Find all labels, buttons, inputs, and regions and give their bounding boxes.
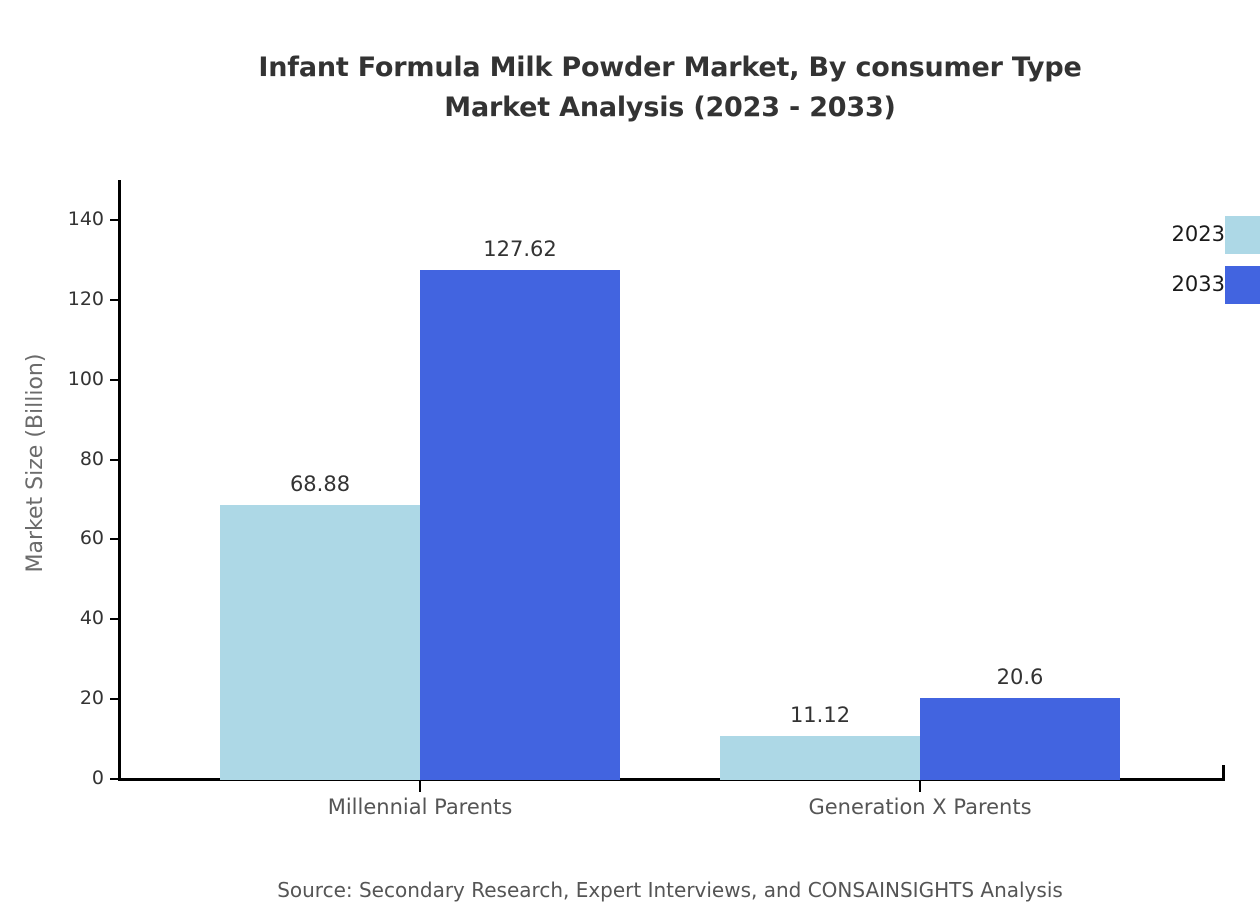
y-axis-tick [110,618,120,620]
y-axis-tick [110,299,120,301]
x-axis-tick [919,781,921,792]
y-axis-tick [110,538,120,540]
legend-item-2033[interactable]: 2033 [1130,266,1260,304]
y-axis-tick-label: 120 [68,290,104,309]
bar-value-label: 20.6 [920,665,1120,689]
bar-2033-generation-x-parents[interactable] [920,698,1120,780]
bar-value-label: 68.88 [220,472,420,496]
bar-2033-millennial-parents[interactable] [420,270,620,780]
bar-value-label: 11.12 [720,703,920,727]
x-axis-category-label: Millennial Parents [220,793,620,821]
legend-label: 2023 [1172,222,1225,246]
bar-2023-millennial-parents[interactable] [220,505,420,780]
x-axis-tick [419,781,421,792]
y-axis-tick-label: 20 [80,689,104,708]
y-axis-tick-label: 80 [80,450,104,469]
y-axis-label: Market Size (Billion) [23,213,49,713]
y-axis-tick-label: 100 [68,370,104,389]
y-axis-tick [110,379,120,381]
y-axis-tick-label: 60 [80,529,104,548]
source-note: Source: Secondary Research, Expert Inter… [0,876,1260,904]
y-axis-tick [110,459,120,461]
bar-value-label: 127.62 [420,237,620,261]
y-axis-tick-label: 0 [92,769,104,788]
chart-figure: Infant Formula Milk Powder Market, By co… [0,0,1260,920]
legend-swatch [1225,216,1260,254]
chart-legend: 20232033 [1130,216,1260,306]
y-axis-tick-label: 140 [68,210,104,229]
chart-title-line-1: Infant Formula Milk Powder Market, By co… [0,48,1260,88]
bar-2023-generation-x-parents[interactable] [720,736,920,780]
y-axis-tick-label: 40 [80,609,104,628]
y-axis-tick [110,219,120,221]
y-axis-tick [110,778,120,780]
legend-swatch [1225,266,1260,304]
chart-title-line-2: Market Analysis (2023 - 2033) [0,88,1260,128]
y-axis-tick [110,698,120,700]
legend-item-2023[interactable]: 2023 [1130,216,1260,254]
legend-label: 2033 [1172,272,1225,296]
x-axis-category-label: Generation X Parents [720,793,1120,821]
chart-title: Infant Formula Milk Powder Market, By co… [0,48,1260,128]
